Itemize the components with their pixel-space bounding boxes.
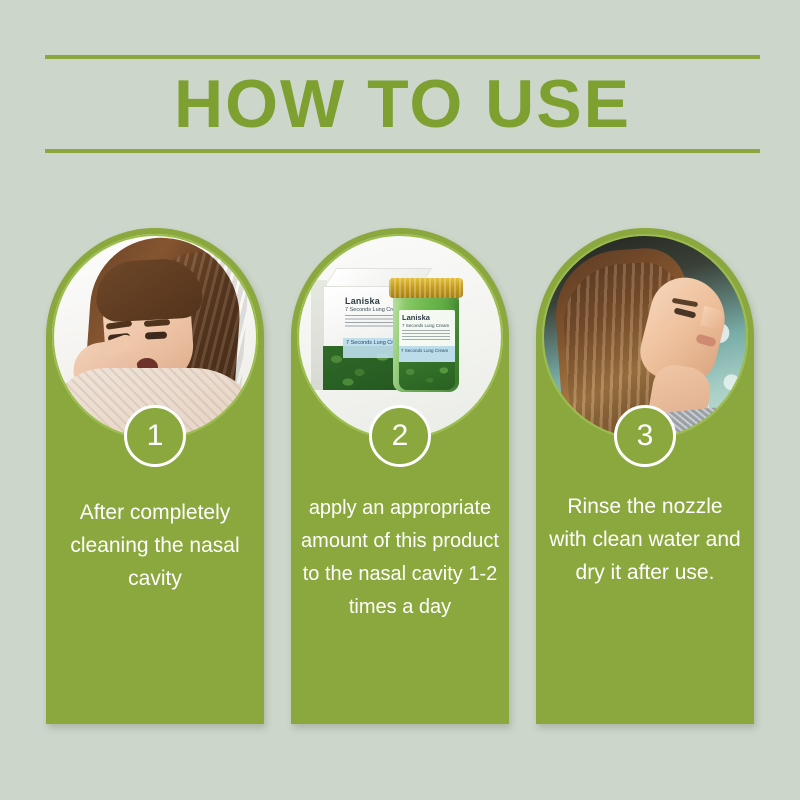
product-jar-fineprint [402,330,450,342]
step-card-3: 3 Rinse the nozzle with clean water and … [536,228,754,724]
step-card-1: 1 After completely cleaning the nasal ca… [46,228,264,724]
title-rule-bottom [45,149,760,153]
step-caption-2: apply an appropriate amount of this prod… [295,492,505,624]
step-badge-3: 3 [614,405,676,467]
product-jar-band-text: 7 Seconds Lung Cream [401,348,448,353]
how-to-use-infographic: HOW TO USE [0,0,800,800]
steps-row: 1 After completely cleaning the nasal ca… [46,228,754,724]
step-badge-2: 2 [369,405,431,467]
page-title: HOW TO USE [45,59,760,149]
product-jar-leaf-artwork [399,362,455,390]
header: HOW TO USE [45,55,760,153]
step-caption-3: Rinse the nozzle with clean water and dr… [546,490,744,589]
product-jar-name-text: 7 Seconds Lung Cream [402,323,449,328]
eye-right [145,331,167,339]
product-jar-lid [389,278,463,298]
step-caption-1: After completely cleaning the nasal cavi… [56,496,254,595]
product-jar-brand-text: Laniska [402,313,430,322]
step-badge-1: 1 [124,405,186,467]
step-card-2: Laniska 7 Seconds Lung Cream 7 Seconds L… [291,228,509,724]
